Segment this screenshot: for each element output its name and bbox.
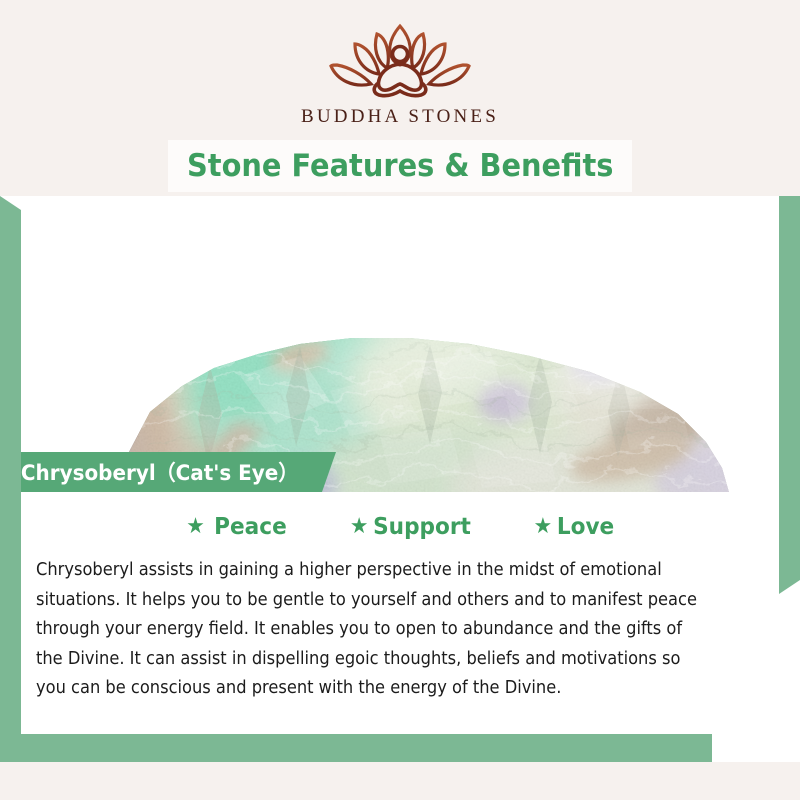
stone-name-banner: Chrysoberyl（Cat's Eye） [0, 452, 336, 492]
brand-logo: BUDDHA STONES [0, 18, 800, 128]
keyword-love: ★ Love [534, 514, 615, 540]
description-text: Chrysoberyl assists in gaining a higher … [36, 556, 713, 704]
keyword-list: ★ Peace ★ Support ★ Love [0, 514, 800, 540]
keyword-peace-label: Peace [214, 514, 287, 540]
star-icon: ★ [534, 516, 553, 538]
stone-name-label: Chrysoberyl（Cat's Eye） [0, 457, 298, 487]
frame-border-bottom [0, 734, 712, 762]
keyword-support-label: Support [373, 514, 471, 540]
title-banner: Stone Features & Benefits [168, 140, 632, 192]
brand-name: BUDDHA STONES [301, 106, 499, 128]
footer-white-gap [712, 734, 800, 762]
footer-background [0, 762, 800, 800]
lotus-meditation-figure-icon [315, 18, 485, 104]
star-icon: ★ [350, 516, 369, 538]
keyword-peace: ★ Peace [186, 514, 287, 540]
star-icon: ★ [186, 516, 205, 538]
frame-border-left [0, 196, 21, 762]
page-title: Stone Features & Benefits [187, 148, 613, 184]
content-panel: ★ Peace ★ Support ★ Love Chrysoberyl ass… [0, 492, 800, 734]
stone-photo-graphic [0, 196, 800, 496]
stone-photo [0, 196, 800, 496]
keyword-love-label: Love [557, 514, 614, 540]
frame-border-right [779, 196, 800, 594]
keyword-support: ★ Support [350, 514, 471, 540]
infographic-page: BUDDHA STONES Stone Features & Benefits [0, 0, 800, 800]
